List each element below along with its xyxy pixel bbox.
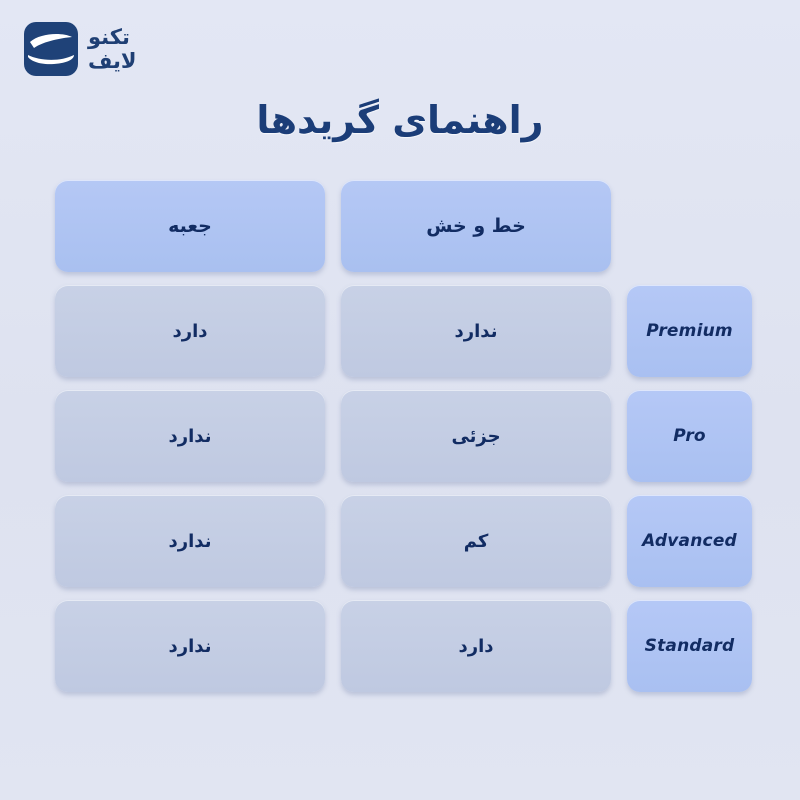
grade-label-pro[interactable]: Pro xyxy=(627,390,752,482)
cell-scratches-pro: جزئی xyxy=(341,390,611,482)
table-row: Standard دارد ندارد xyxy=(62,600,752,692)
cell-box-advanced: ندارد xyxy=(55,495,325,587)
cell-box-standard: ندارد xyxy=(55,600,325,692)
header-grade-placeholder xyxy=(627,180,752,272)
cell-scratches-standard: دارد xyxy=(341,600,611,692)
page-title: راهنمای گریدها xyxy=(0,98,800,142)
grade-label-premium[interactable]: Premium xyxy=(627,285,752,377)
cell-scratches-premium: ندارد xyxy=(341,285,611,377)
brand-logo: تکنو لایف xyxy=(24,22,188,76)
brand-word-line2: لایف xyxy=(88,51,137,72)
brand-wordmark: تکنو لایف xyxy=(88,27,137,72)
grade-label-standard[interactable]: Standard xyxy=(627,600,752,692)
table-row: Advanced کم ندارد xyxy=(62,495,752,587)
cell-scratches-advanced: کم xyxy=(341,495,611,587)
table-header-row: خط و خش جعبه xyxy=(62,180,752,272)
techno-life-swoosh-icon xyxy=(24,22,78,76)
table-row: Premium ندارد دارد xyxy=(62,285,752,377)
column-header-scratches: خط و خش xyxy=(341,180,611,272)
grades-table: خط و خش جعبه Premium ندارد دارد Pro جزئی… xyxy=(62,180,752,692)
table-row: Pro جزئی ندارد xyxy=(62,390,752,482)
brand-word-line1: تکنو xyxy=(88,27,130,48)
column-header-box: جعبه xyxy=(55,180,325,272)
cell-box-pro: ندارد xyxy=(55,390,325,482)
grade-label-advanced[interactable]: Advanced xyxy=(627,495,752,587)
cell-box-premium: دارد xyxy=(55,285,325,377)
